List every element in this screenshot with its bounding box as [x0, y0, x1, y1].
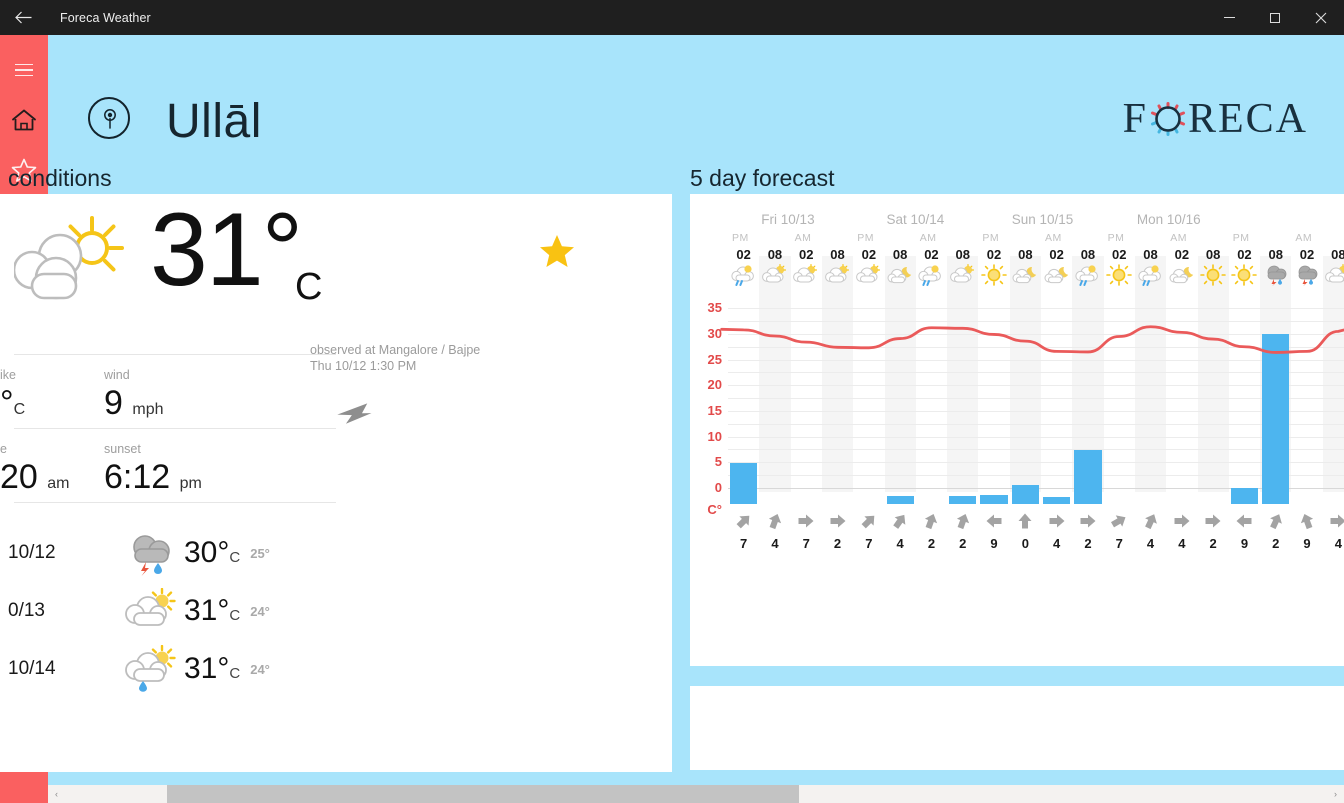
metric-sunset: sunset 6:12 pm: [104, 442, 334, 503]
sidebar-item-menu[interactable]: [0, 45, 48, 95]
close-icon: [1315, 12, 1327, 24]
conditions-section-title: conditions: [8, 165, 112, 192]
chart-wind-column: 2: [1072, 512, 1103, 551]
chart-wind-speed: 7: [728, 536, 759, 551]
wind-direction-arrow-icon: [859, 517, 879, 534]
wind-direction-arrow-icon: [1109, 517, 1129, 534]
wind-direction-arrow-icon: [1328, 517, 1344, 534]
forecast-low: 24°: [250, 604, 270, 619]
forecast-low: 24°: [250, 662, 270, 677]
forecast-date: 10/14: [0, 658, 118, 680]
maximize-icon: [1270, 13, 1280, 23]
chart-wind-speed: 4: [1166, 536, 1197, 551]
location-search-button[interactable]: [88, 97, 130, 139]
secondary-panel: [690, 686, 1344, 770]
scroll-left-button[interactable]: ‹: [48, 789, 65, 799]
sidebar-item-home[interactable]: [0, 95, 48, 145]
chart-wind-column: 4: [759, 512, 790, 551]
chart-wind-speed: 4: [1323, 536, 1344, 551]
chart-temperature-line: [728, 194, 1344, 492]
chart-wind-column: 2: [947, 512, 978, 551]
back-arrow-icon: [15, 11, 32, 24]
star-filled-icon: [538, 234, 576, 270]
forecast-high: 31°C: [184, 652, 240, 686]
scrollbar-track[interactable]: [65, 785, 1327, 803]
chart-wind-column: 0: [1010, 512, 1041, 551]
wind-direction-arrow-icon: [734, 517, 754, 534]
divider-2: [14, 428, 336, 429]
chart-y-tick: 10: [690, 429, 722, 444]
chart-precipitation-bar: [949, 496, 976, 504]
chart-wind-column: 9: [1229, 512, 1260, 551]
chart-wind-column: 7: [791, 512, 822, 551]
foreca-logo: F RECA: [1123, 95, 1308, 143]
chart-wind-column: 2: [1198, 512, 1229, 551]
forecast-high: 31°C: [184, 594, 240, 628]
chart-y-tick: 30: [690, 326, 722, 341]
minimize-button[interactable]: [1206, 0, 1252, 35]
sunset-value: 6:12 pm: [104, 458, 334, 503]
hourly-forecast-chart[interactable]: Fri 10/13Sat 10/14Sun 10/15Mon 10/16PMAM…: [690, 194, 1344, 666]
chart-wind-speed: 4: [1041, 536, 1072, 551]
logo-sun-icon: [1149, 100, 1187, 138]
forecast-date: 10/12: [0, 542, 118, 564]
chart-wind-speed: 9: [1229, 536, 1260, 551]
title-bar: Foreca Weather: [0, 0, 1344, 35]
table-row[interactable]: 0/13: [0, 582, 340, 640]
chart-wind-speed: 4: [1135, 536, 1166, 551]
hamburger-icon: [15, 64, 33, 77]
chart-wind-speed: 2: [1260, 536, 1291, 551]
partly-cloudy-day-icon: [14, 212, 134, 327]
wind-direction-arrow-icon: [1297, 517, 1317, 534]
chart-precipitation-bar: [980, 495, 1007, 505]
scroll-right-button[interactable]: ›: [1327, 789, 1344, 799]
close-button[interactable]: [1298, 0, 1344, 35]
wind-direction-arrow-icon: [953, 517, 973, 534]
chart-wind-column: 7: [1104, 512, 1135, 551]
forecast-date: 0/13: [0, 600, 118, 622]
chart-wind-column: 7: [728, 512, 759, 551]
wind-direction-arrow-icon: [1172, 517, 1192, 534]
wind-direction-arrow-icon: [334, 394, 376, 435]
forecast-chart-card: Fri 10/13Sat 10/14Sun 10/15Mon 10/16PMAM…: [690, 194, 1344, 666]
chart-y-tick: 15: [690, 403, 722, 418]
logo-letters-reca: RECA: [1188, 95, 1308, 143]
home-icon: [11, 108, 37, 132]
table-row[interactable]: 10/12 30°C 25°: [0, 524, 340, 582]
logo-letter-f: F: [1123, 95, 1148, 143]
observation-info: observed at Mangalore / Bajpe Thu 10/12 …: [310, 342, 480, 374]
chart-wind-column: 2: [822, 512, 853, 551]
table-row[interactable]: 10/14: [0, 640, 340, 698]
chart-wind-speed: 4: [759, 536, 790, 551]
wind-direction-arrow-icon: [1266, 517, 1286, 534]
divider-3: [14, 502, 336, 503]
window-body: Ullāl F RECA: [0, 35, 1344, 803]
wind-direction-arrow-icon: [796, 517, 816, 534]
chart-wind-speed: 2: [947, 536, 978, 551]
scrollbar-thumb[interactable]: [167, 785, 799, 803]
chart-y-tick: 25: [690, 352, 722, 367]
page-title: Ullāl: [166, 85, 262, 159]
chart-wind-column: 9: [1291, 512, 1322, 551]
window-title: Foreca Weather: [60, 11, 151, 25]
chart-wind-column: 4: [1166, 512, 1197, 551]
chart-y-tick: 20: [690, 377, 722, 392]
chart-wind-speed: 2: [1072, 536, 1103, 551]
wind-direction-arrow-icon: [984, 517, 1004, 534]
current-temperature: 31°: [150, 198, 301, 302]
favorite-star-button[interactable]: [538, 234, 576, 275]
wind-value: 9 mph: [104, 384, 334, 429]
chart-y-unit-label: C°: [690, 502, 722, 517]
partly-cloudy-icon: [118, 588, 184, 634]
back-button[interactable]: [0, 0, 46, 35]
wind-direction-arrow-icon: [890, 517, 910, 534]
chart-wind-speed: 9: [1291, 536, 1322, 551]
chart-y-tick: 0: [690, 480, 722, 495]
chart-wind-column: 9: [978, 512, 1009, 551]
wind-direction-arrow-icon: [1234, 517, 1254, 534]
chart-y-tick: 35: [690, 300, 722, 315]
chart-wind-column: 4: [1135, 512, 1166, 551]
chart-wind-speed: 4: [885, 536, 916, 551]
current-temperature-unit: C: [295, 266, 322, 309]
wind-direction-arrow-icon: [1047, 517, 1067, 534]
chart-wind-speed: 7: [791, 536, 822, 551]
wind-direction-arrow-icon: [1203, 517, 1223, 534]
chart-wind-speed: 2: [822, 536, 853, 551]
forecast-low: 25°: [250, 546, 270, 561]
maximize-button[interactable]: [1252, 0, 1298, 35]
page-header: Ullāl F RECA: [48, 87, 1344, 161]
wind-direction-arrow-icon: [1078, 517, 1098, 534]
divider-1: [14, 354, 336, 355]
app-window: Foreca Weather: [0, 0, 1344, 803]
metric-wind: wind 9 mph: [104, 368, 334, 429]
current-temperature-row: 31° C observed at Mangalore / Bajpe Thu …: [0, 194, 672, 354]
rain-sun-icon: [118, 645, 184, 693]
current-conditions-card: 31° C observed at Mangalore / Bajpe Thu …: [0, 194, 672, 772]
forecast-section-title: 5 day forecast: [690, 165, 834, 192]
chart-wind-column: 4: [1041, 512, 1072, 551]
wind-label: wind: [104, 368, 334, 382]
chart-wind-column: 4: [1323, 512, 1344, 551]
chart-wind-speed: 9: [978, 536, 1009, 551]
chart-wind-column: 2: [1260, 512, 1291, 551]
chart-wind-column: 7: [853, 512, 884, 551]
wind-direction-arrow-icon: [921, 517, 941, 534]
wind-direction-arrow-icon: [1141, 517, 1161, 534]
content-area: Ullāl F RECA: [48, 35, 1344, 785]
minimize-icon: [1224, 17, 1235, 18]
horizontal-scrollbar[interactable]: ‹ ›: [48, 785, 1344, 803]
chart-wind-speed: 2: [916, 536, 947, 551]
chart-wind-column: 4: [885, 512, 916, 551]
wind-direction-arrow-icon: [828, 517, 848, 534]
forecast-high: 30°C: [184, 536, 240, 570]
chart-wind-speed: 0: [1010, 536, 1041, 551]
chart-wind-speed: 2: [1198, 536, 1229, 551]
chart-wind-speed: 7: [853, 536, 884, 551]
thunderstorm-rain-icon: [118, 530, 184, 576]
chart-precipitation-bar: [887, 496, 914, 504]
wind-direction-arrow-icon: [1015, 517, 1035, 534]
location-search-icon: [99, 107, 121, 131]
chart-wind-column: 2: [916, 512, 947, 551]
sunset-label: sunset: [104, 442, 334, 456]
chart-precipitation-bar: [1043, 497, 1070, 504]
chart-wind-speed: 7: [1104, 536, 1135, 551]
chart-y-tick: 5: [690, 454, 722, 469]
wind-direction-arrow-icon: [765, 517, 785, 534]
